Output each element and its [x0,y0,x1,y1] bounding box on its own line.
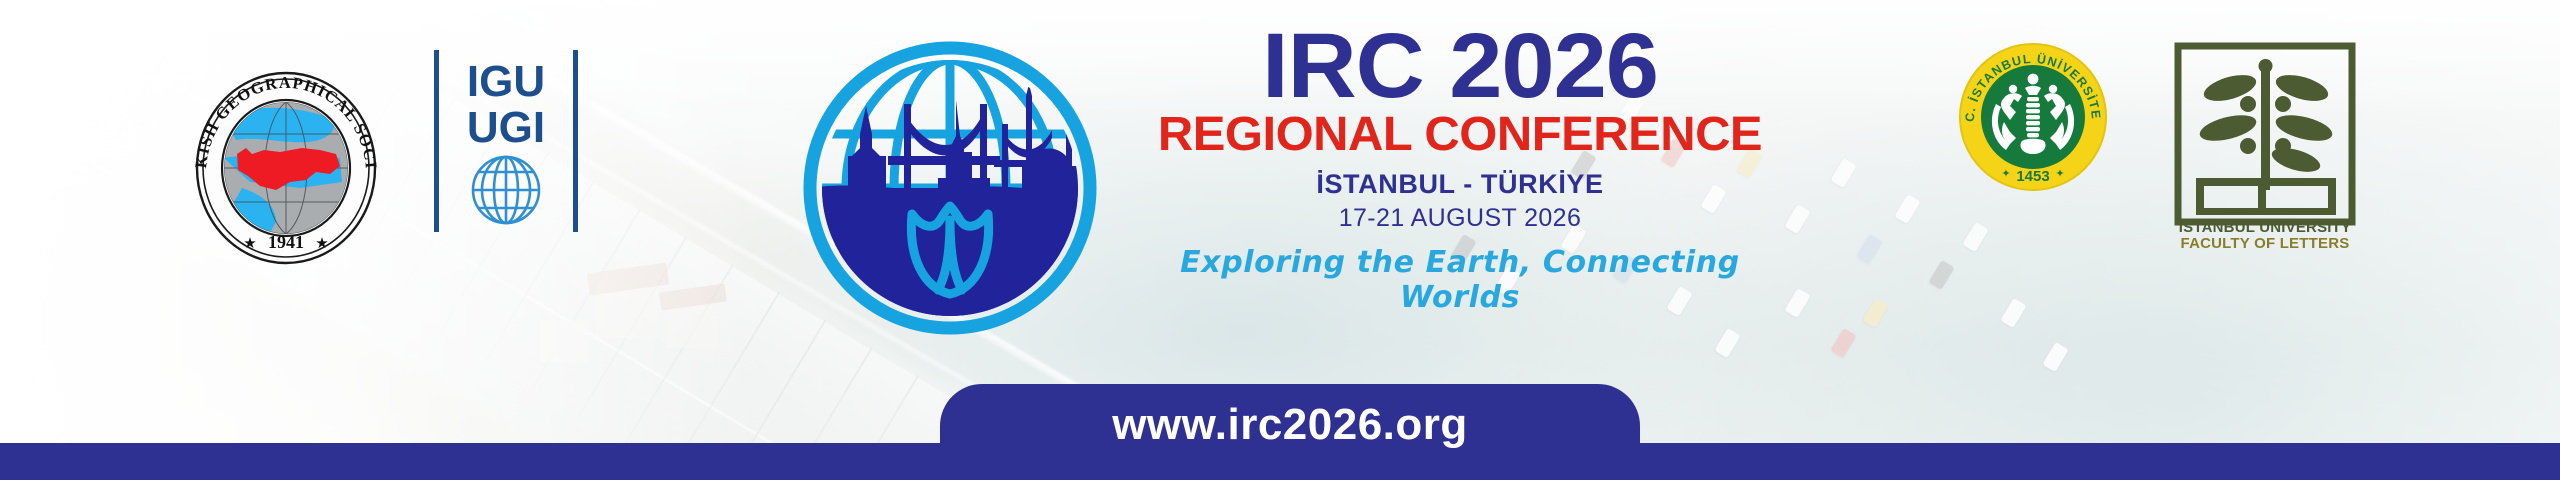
event-code: IRC 2026 [1127,24,1793,109]
istanbul-university-seal: T.C. İSTANBUL ÜNİVERSİTESİ 1453 ✦ ✦ [1958,42,2108,192]
svg-text:UGI: UGI [467,103,545,152]
svg-text:✦: ✦ [2001,168,2010,180]
conference-banner: TURKISH GEOGRAPHICAL SOCIETY 1941 ★ ★ IG… [0,0,2560,480]
svg-text:★: ★ [243,235,256,252]
event-tagline: Exploring the Earth, Connecting Worlds [1140,245,1780,315]
website-cta[interactable]: www.irc2026.org [940,384,1640,480]
turkish-geographical-society-seal: TURKISH GEOGRAPHICAL SOCIETY 1941 ★ ★ [180,62,392,274]
svg-text:★: ★ [315,235,328,252]
svg-text:✦: ✦ [2055,168,2064,180]
faculty-of-letters-caption: ISTANBUL UNIVERSITY FACULTY OF LETTERS [2170,220,2360,252]
faculty-of-letters-logo [2170,42,2360,232]
irc-globe-logo [800,38,1100,338]
faculty-caption-line1: ISTANBUL UNIVERSITY [2170,220,2360,236]
title-block: IRC 2026 REGIONAL CONFERENCE İSTANBUL - … [1140,24,1780,344]
faculty-caption-line2: FACULTY OF LETTERS [2170,236,2360,252]
svg-text:IGU: IGU [467,57,545,106]
event-dates: 17-21 AUGUST 2026 [1140,204,1780,233]
svg-text:1941: 1941 [268,232,304,252]
event-type: REGIONAL CONFERENCE [1134,111,1787,159]
event-location: İSTANBUL - TÜRKİYE [1140,169,1780,200]
igu-ugi-logo: IGU UGI [432,50,580,232]
svg-text:1453: 1453 [2016,168,2049,185]
website-url[interactable]: www.irc2026.org [1112,400,1468,450]
